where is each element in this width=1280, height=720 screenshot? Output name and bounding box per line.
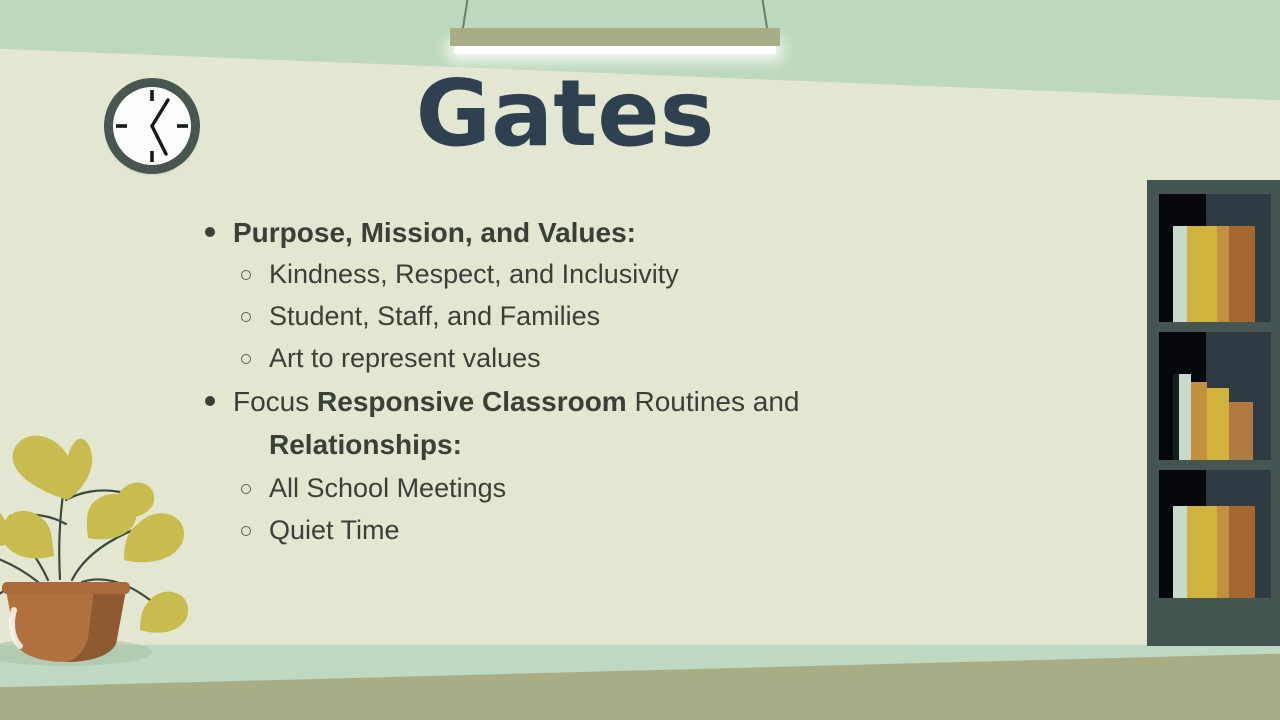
bookshelf-icon bbox=[1147, 180, 1280, 646]
list-item: Focus Responsive Classroom Routines and bbox=[205, 383, 1105, 420]
plant-svg bbox=[0, 404, 198, 672]
slide-title: Gates bbox=[0, 66, 1130, 163]
light-bar bbox=[450, 28, 780, 46]
list-item-segment-bold-2: Relationships bbox=[269, 429, 453, 460]
bullet-circle-icon bbox=[241, 484, 251, 494]
bullet-circle-icon bbox=[241, 312, 251, 322]
list-item-label: Quiet Time bbox=[269, 513, 400, 549]
book-item bbox=[1179, 374, 1191, 460]
hanging-light-fixture bbox=[440, 0, 790, 50]
bullet-circle-icon bbox=[241, 270, 251, 280]
list-item-label: Purpose, Mission, and Values: bbox=[233, 214, 636, 251]
book-item bbox=[1173, 506, 1187, 598]
book-item bbox=[1217, 506, 1229, 598]
list-item: All School Meetings bbox=[241, 471, 1105, 507]
plant-pot bbox=[0, 582, 152, 666]
slide-body-content: Purpose, Mission, and Values: Kindness, … bbox=[205, 214, 1105, 555]
bullet-disc-icon bbox=[205, 227, 215, 237]
bullet-disc-icon bbox=[205, 396, 215, 406]
list-item: Quiet Time bbox=[241, 513, 1105, 549]
book-item bbox=[1207, 388, 1229, 460]
list-item: Student, Staff, and Families bbox=[241, 299, 1105, 335]
slide-canvas: Gates Purpose, Mission, and Values: Kind… bbox=[0, 0, 1280, 720]
book-item bbox=[1187, 506, 1217, 598]
book-item bbox=[1229, 506, 1255, 598]
book-item bbox=[1229, 402, 1253, 460]
list-item: Purpose, Mission, and Values: bbox=[205, 214, 1105, 251]
list-item: Kindness, Respect, and Inclusivity bbox=[241, 257, 1105, 293]
bookshelf-shelf-1 bbox=[1159, 194, 1271, 322]
book-item bbox=[1191, 382, 1207, 460]
bookshelf-shelf-3 bbox=[1159, 470, 1271, 598]
list-item-segment-plain-2: Routines and bbox=[627, 386, 800, 417]
list-item-segment-plain: Focus bbox=[233, 386, 317, 417]
list-item-segment-bold: Responsive Classroom bbox=[317, 386, 627, 417]
list-item: Art to represent values bbox=[241, 341, 1105, 377]
book-item bbox=[1173, 226, 1187, 322]
bullet-circle-icon bbox=[241, 526, 251, 536]
light-glow bbox=[454, 45, 776, 54]
list-item-wrapped-line: Relationships: bbox=[269, 426, 1105, 463]
list-item-label: Student, Staff, and Families bbox=[269, 299, 600, 335]
light-wire-right-icon bbox=[760, 0, 769, 32]
potted-plant-icon bbox=[0, 404, 198, 672]
light-wire-left-icon bbox=[461, 0, 470, 32]
list-item-segment-colon: : bbox=[453, 429, 462, 460]
bullet-circle-icon bbox=[241, 354, 251, 364]
book-item bbox=[1229, 226, 1255, 322]
book-item bbox=[1187, 226, 1217, 322]
bookshelf-shelf-2 bbox=[1159, 332, 1271, 460]
list-item-label: Focus Responsive Classroom Routines and bbox=[233, 383, 800, 420]
list-item-label: Art to represent values bbox=[269, 341, 541, 377]
book-item bbox=[1217, 226, 1229, 322]
list-item-label: All School Meetings bbox=[269, 471, 506, 507]
list-item-label: Kindness, Respect, and Inclusivity bbox=[269, 257, 679, 293]
